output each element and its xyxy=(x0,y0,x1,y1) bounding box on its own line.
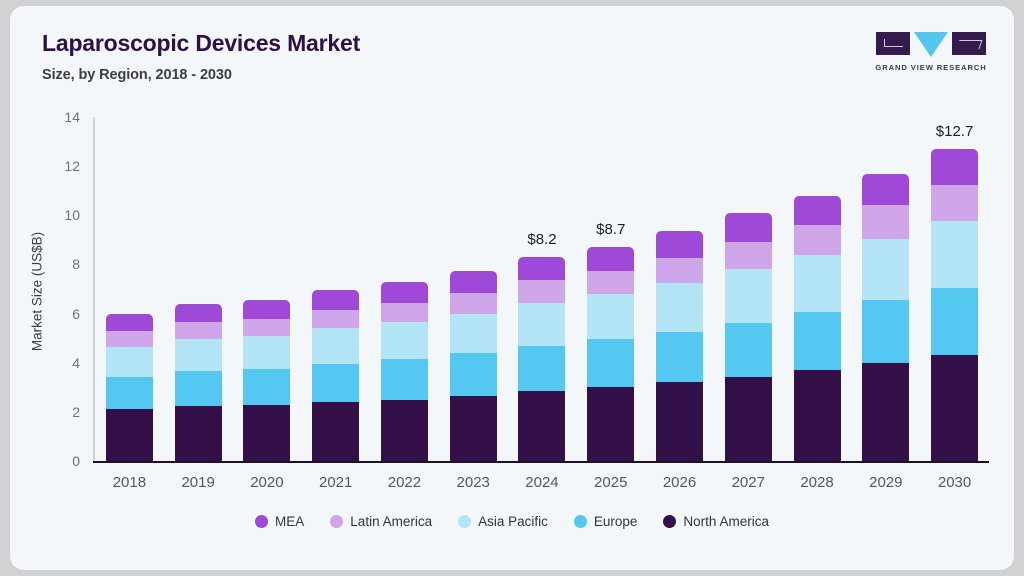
stacked-bar[interactable] xyxy=(931,149,978,461)
y-axis-tick-label: 8 xyxy=(40,256,80,272)
legend-color-swatch-icon xyxy=(458,515,471,528)
y-axis-tick-label: 0 xyxy=(40,453,80,469)
bar-segment[interactable] xyxy=(725,323,772,377)
bar-segment[interactable] xyxy=(243,319,290,336)
x-axis-tick-label: 2028 xyxy=(783,474,852,491)
bar-segment[interactable] xyxy=(381,359,428,400)
bar-column[interactable] xyxy=(851,117,920,461)
x-axis-tick-label: 2024 xyxy=(508,474,577,491)
bar-segment[interactable] xyxy=(931,355,978,461)
bar-segment[interactable] xyxy=(725,377,772,461)
legend-color-swatch-icon xyxy=(663,515,676,528)
bar-series-group: $8.2$8.7$12.7 xyxy=(95,117,989,461)
bar-column[interactable] xyxy=(301,117,370,461)
x-axis-tick-label: 2019 xyxy=(164,474,233,491)
bar-segment[interactable] xyxy=(587,247,634,270)
bar-segment[interactable] xyxy=(862,363,909,461)
bar-value-label: $12.7 xyxy=(910,123,1000,140)
x-axis-tick-label: 2021 xyxy=(301,474,370,491)
bar-segment[interactable] xyxy=(518,303,565,346)
bar-segment[interactable] xyxy=(656,332,703,382)
bar-segment[interactable] xyxy=(450,353,497,396)
y-axis-tick-label: 12 xyxy=(40,158,80,174)
bar-column[interactable]: $8.7 xyxy=(576,117,645,461)
x-axis-tick-label: 2023 xyxy=(439,474,508,491)
bar-segment[interactable] xyxy=(656,283,703,332)
bar-segment[interactable] xyxy=(106,331,153,347)
stacked-bar[interactable] xyxy=(243,300,290,461)
bar-segment[interactable] xyxy=(794,225,841,254)
stacked-bar[interactable] xyxy=(862,174,909,461)
bar-segment[interactable] xyxy=(106,377,153,409)
legend-label: Asia Pacific xyxy=(478,514,548,529)
x-axis-tick-label: 2029 xyxy=(851,474,920,491)
y-axis-tick-label: 10 xyxy=(40,207,80,223)
legend-label: Europe xyxy=(594,514,638,529)
x-axis-tick-label: 2030 xyxy=(920,474,989,491)
bar-segment[interactable] xyxy=(931,149,978,185)
bar-segment[interactable] xyxy=(725,269,772,323)
x-axis-line xyxy=(93,461,989,463)
legend-item[interactable]: North America xyxy=(663,514,769,529)
bar-segment[interactable] xyxy=(381,282,428,303)
bar-segment[interactable] xyxy=(450,293,497,314)
legend-color-swatch-icon xyxy=(574,515,587,528)
bar-segment[interactable] xyxy=(381,322,428,359)
legend-label: Latin America xyxy=(350,514,432,529)
bar-segment[interactable] xyxy=(243,405,290,462)
bar-segment[interactable] xyxy=(381,303,428,323)
chart-plot-area: Market Size (US$B) 02468101214 $8.2$8.7$… xyxy=(10,6,1014,570)
bar-segment[interactable] xyxy=(587,339,634,387)
y-axis-tick-label: 2 xyxy=(40,404,80,420)
bar-segment[interactable] xyxy=(794,196,841,225)
stacked-bar[interactable] xyxy=(725,213,772,461)
bar-segment[interactable] xyxy=(862,174,909,206)
stacked-bar[interactable] xyxy=(656,231,703,461)
bar-segment[interactable] xyxy=(243,369,290,405)
bar-segment[interactable] xyxy=(587,387,634,461)
stacked-bar[interactable] xyxy=(518,257,565,461)
bar-segment[interactable] xyxy=(243,300,290,318)
bar-segment[interactable] xyxy=(931,221,978,287)
bar-column[interactable] xyxy=(714,117,783,461)
x-axis-tick-label: 2020 xyxy=(233,474,302,491)
x-axis-tick-label: 2027 xyxy=(714,474,783,491)
x-axis-tick-label: 2022 xyxy=(370,474,439,491)
legend-color-swatch-icon xyxy=(255,515,268,528)
y-axis-tick-label: 6 xyxy=(40,306,80,322)
bar-segment[interactable] xyxy=(725,213,772,242)
bar-segment[interactable] xyxy=(862,300,909,363)
bar-segment[interactable] xyxy=(656,258,703,283)
legend-label: MEA xyxy=(275,514,304,529)
bar-segment[interactable] xyxy=(381,400,428,461)
bar-segment[interactable] xyxy=(862,205,909,238)
bar-column[interactable] xyxy=(783,117,852,461)
bar-segment[interactable] xyxy=(312,310,359,328)
bar-segment[interactable] xyxy=(931,185,978,222)
stacked-bar[interactable] xyxy=(381,282,428,461)
bar-segment[interactable] xyxy=(518,257,565,280)
bar-column[interactable] xyxy=(439,117,508,461)
bar-segment[interactable] xyxy=(587,294,634,339)
bar-segment[interactable] xyxy=(931,288,978,356)
bar-segment[interactable] xyxy=(794,370,841,461)
bar-segment[interactable] xyxy=(175,339,222,371)
bar-segment[interactable] xyxy=(518,280,565,302)
legend-label: North America xyxy=(683,514,769,529)
stacked-bar[interactable] xyxy=(312,290,359,461)
bar-column[interactable] xyxy=(645,117,714,461)
bar-segment[interactable] xyxy=(450,396,497,461)
legend-color-swatch-icon xyxy=(330,515,343,528)
legend-item[interactable]: Latin America xyxy=(330,514,432,529)
bar-segment[interactable] xyxy=(243,336,290,369)
bar-segment[interactable] xyxy=(862,239,909,300)
bar-segment[interactable] xyxy=(106,409,153,461)
bar-segment[interactable] xyxy=(312,290,359,310)
legend-item[interactable]: Asia Pacific xyxy=(458,514,548,529)
y-axis-ticks: 02468101214 xyxy=(36,6,80,570)
bar-segment[interactable] xyxy=(175,322,222,339)
x-axis-tick-label: 2025 xyxy=(576,474,645,491)
bar-column[interactable] xyxy=(164,117,233,461)
bar-segment[interactable] xyxy=(450,314,497,353)
bar-segment[interactable] xyxy=(656,382,703,461)
bar-segment[interactable] xyxy=(794,312,841,370)
bar-segment[interactable] xyxy=(725,242,772,269)
legend-item[interactable]: Europe xyxy=(574,514,638,529)
chart-card: Laparoscopic Devices Market Size, by Reg… xyxy=(10,6,1014,570)
y-axis-tick-label: 14 xyxy=(40,109,80,125)
bar-segment[interactable] xyxy=(450,271,497,293)
bar-segment[interactable] xyxy=(175,304,222,322)
bar-segment[interactable] xyxy=(518,346,565,391)
x-axis-ticks: 2018201920202021202220232024202520262027… xyxy=(95,474,989,491)
bar-segment[interactable] xyxy=(794,255,841,313)
bar-segment[interactable] xyxy=(656,231,703,258)
bar-segment[interactable] xyxy=(312,402,359,461)
stacked-bar[interactable] xyxy=(794,196,841,461)
bar-segment[interactable] xyxy=(312,364,359,402)
y-axis-tick-label: 4 xyxy=(40,355,80,371)
stacked-bar[interactable] xyxy=(450,271,497,461)
legend-item[interactable]: MEA xyxy=(255,514,304,529)
stacked-bar[interactable] xyxy=(106,314,153,461)
chart-legend: MEALatin AmericaAsia PacificEuropeNorth … xyxy=(10,514,1014,529)
stacked-bar[interactable] xyxy=(587,247,634,461)
bar-segment[interactable] xyxy=(106,347,153,378)
bar-column[interactable] xyxy=(233,117,302,461)
bar-value-label: $8.7 xyxy=(566,221,656,238)
bar-column[interactable] xyxy=(95,117,164,461)
bar-segment[interactable] xyxy=(175,371,222,405)
x-axis-tick-label: 2026 xyxy=(645,474,714,491)
bar-column[interactable] xyxy=(370,117,439,461)
bar-segment[interactable] xyxy=(518,391,565,461)
bar-column[interactable]: $8.2 xyxy=(508,117,577,461)
x-axis-tick-label: 2018 xyxy=(95,474,164,491)
stacked-bar[interactable] xyxy=(175,304,222,461)
bar-segment[interactable] xyxy=(175,406,222,461)
bar-column[interactable]: $12.7 xyxy=(920,117,989,461)
bar-segment[interactable] xyxy=(587,271,634,294)
bar-segment[interactable] xyxy=(312,328,359,364)
bar-segment[interactable] xyxy=(106,314,153,331)
